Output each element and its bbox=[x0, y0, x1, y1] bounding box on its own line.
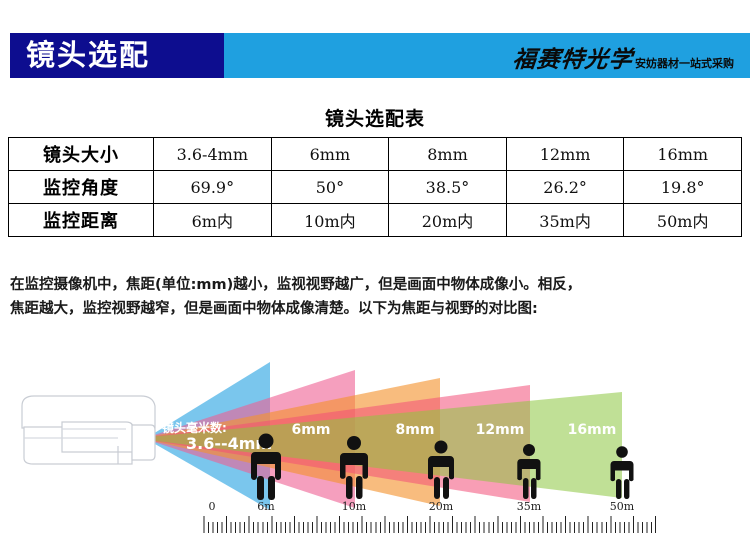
cell-view-distance-1: 6m内 bbox=[154, 204, 272, 237]
table-row: 监控角度 69.9° 50° 38.5° 26.2° 19.8° bbox=[9, 171, 742, 204]
beam-label-8mm: 8mm bbox=[396, 422, 435, 438]
beam-label-16mm: 16mm bbox=[568, 422, 617, 438]
cell-lens-size-1: 3.6-4mm bbox=[154, 138, 272, 171]
table-row: 镜头大小 3.6-4mm 6mm 8mm 12mm 16mm bbox=[9, 138, 742, 171]
distance-ruler: 0 6m 10m 20m 35m 50m bbox=[204, 500, 656, 533]
cell-lens-size-4: 12mm bbox=[506, 138, 624, 171]
ruler-tick-label-6m: 6m bbox=[257, 500, 275, 513]
cell-view-angle-4: 26.2° bbox=[506, 171, 624, 204]
lens-selection-infographic: 镜头选配 福赛特光学 安妨器材一站式采购 镜头选配表 镜头大小 3.6-4mm … bbox=[0, 0, 750, 548]
apex-label-line1: 镜头毫米数: bbox=[162, 420, 227, 435]
row-header-lens-size: 镜头大小 bbox=[9, 138, 154, 171]
brand-tagline: 安妨器材一站式采购 bbox=[635, 55, 734, 71]
ruler-tick-marks bbox=[204, 516, 652, 533]
ruler-tick-label-35m: 35m bbox=[517, 500, 542, 513]
cell-view-angle-5: 19.8° bbox=[624, 171, 742, 204]
description-paragraph: 在监控摄像机中，焦距(单位:mm)越小，监视视野越广，但是画面中物体成像小。相反… bbox=[10, 273, 742, 321]
brand-name: 福赛特光学 bbox=[511, 40, 635, 74]
cell-view-distance-4: 35m内 bbox=[506, 204, 624, 237]
camera-illustration bbox=[22, 396, 155, 464]
cell-view-distance-2: 10m内 bbox=[271, 204, 389, 237]
cell-view-angle-2: 50° bbox=[271, 171, 389, 204]
cell-view-distance-3: 20m内 bbox=[389, 204, 507, 237]
cell-lens-size-3: 8mm bbox=[389, 138, 507, 171]
description-line-2: 焦距越大，监控视野越窄，但是画面中物体成像清楚。以下为焦距与视野的对比图: bbox=[10, 297, 742, 321]
cell-view-angle-1: 69.9° bbox=[154, 171, 272, 204]
ruler-tick-label-20m: 20m bbox=[429, 500, 454, 513]
brand-logo: 福赛特光学 安妨器材一站式采购 bbox=[513, 40, 734, 74]
banner-title: 镜头选配 bbox=[26, 37, 150, 74]
row-header-view-angle: 监控角度 bbox=[9, 171, 154, 204]
table-title: 镜头选配表 bbox=[0, 104, 750, 131]
header-banner: 镜头选配 福赛特光学 安妨器材一站式采购 bbox=[0, 33, 750, 78]
lens-spec-table: 镜头大小 3.6-4mm 6mm 8mm 12mm 16mm 监控角度 69.9… bbox=[8, 137, 742, 237]
focal-length-comparison-diagram: 镜头毫米数: 3.6--4mm 6mm 8mm 12mm 16mm bbox=[0, 330, 750, 548]
row-header-view-distance: 监控距离 bbox=[9, 204, 154, 237]
ruler-tick-label-0: 0 bbox=[209, 500, 216, 513]
description-line-1: 在监控摄像机中，焦距(单位:mm)越小，监视视野越广，但是画面中物体成像小。相反… bbox=[10, 273, 742, 297]
ruler-tick-label-50m: 50m bbox=[610, 500, 635, 513]
cell-view-distance-5: 50m内 bbox=[624, 204, 742, 237]
beam-label-12mm: 12mm bbox=[476, 422, 525, 438]
beam-label-6mm: 6mm bbox=[292, 422, 331, 438]
ruler-tick-label-10m: 10m bbox=[342, 500, 367, 513]
table-row: 监控距离 6m内 10m内 20m内 35m内 50m内 bbox=[9, 204, 742, 237]
cell-lens-size-5: 16mm bbox=[624, 138, 742, 171]
cell-view-angle-3: 38.5° bbox=[389, 171, 507, 204]
cell-lens-size-2: 6mm bbox=[271, 138, 389, 171]
